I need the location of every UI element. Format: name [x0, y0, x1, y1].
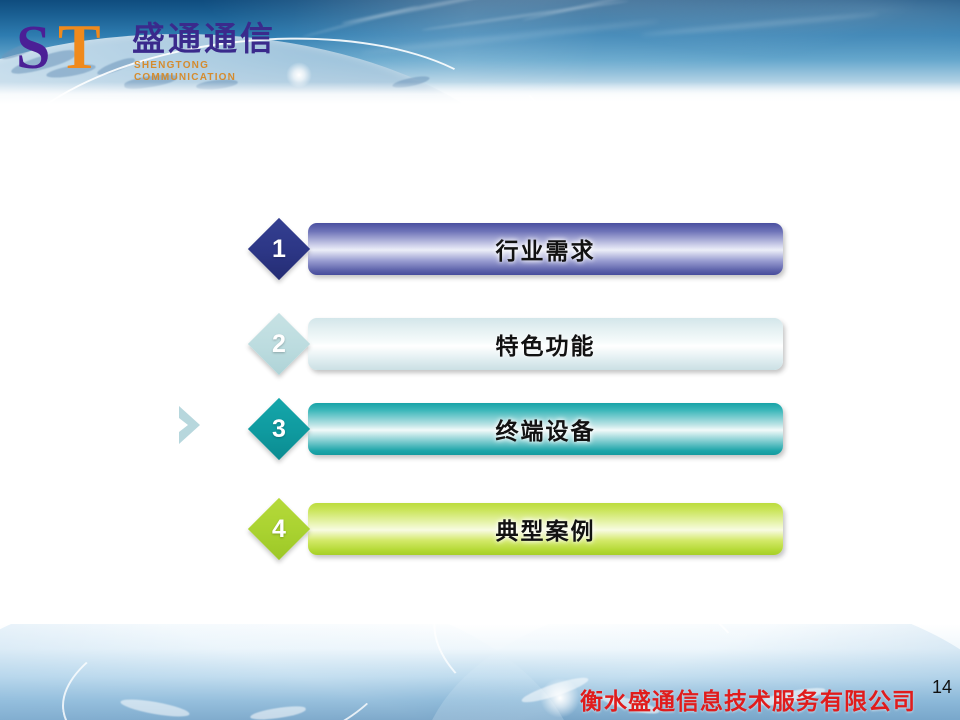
- agenda-label-4: 典型案例: [308, 503, 783, 555]
- page-number: 14: [932, 677, 952, 698]
- agenda-label-3: 终端设备: [308, 403, 783, 455]
- agenda-number-3: 3: [248, 398, 310, 460]
- footer-banner: 衡水盛通信息技术服务有限公司 14: [0, 624, 960, 720]
- footer-company-name: 衡水盛通信息技术服务有限公司: [580, 682, 916, 716]
- footer-flare-icon: [540, 678, 580, 718]
- agenda-label-1: 行业需求: [308, 223, 783, 275]
- agenda-number-1: 1: [248, 218, 310, 280]
- agenda-bar-1[interactable]: 行业需求: [308, 223, 783, 275]
- agenda-number-2: 2: [248, 313, 310, 375]
- chevron-right-icon: [176, 404, 208, 446]
- agenda-label-2: 特色功能: [308, 318, 783, 370]
- agenda-bar-4[interactable]: 典型案例: [308, 503, 783, 555]
- agenda-number-4: 4: [248, 498, 310, 560]
- agenda-list: 行业需求 1 特色功能 2 终端设备 3 典型案例 4: [0, 0, 960, 720]
- agenda-bar-3[interactable]: 终端设备: [308, 403, 783, 455]
- agenda-bar-2[interactable]: 特色功能: [308, 318, 783, 370]
- slide-canvas: S T 盛通通信 SHENGTONG COMMUNICATION 行业需求 1 …: [0, 0, 960, 720]
